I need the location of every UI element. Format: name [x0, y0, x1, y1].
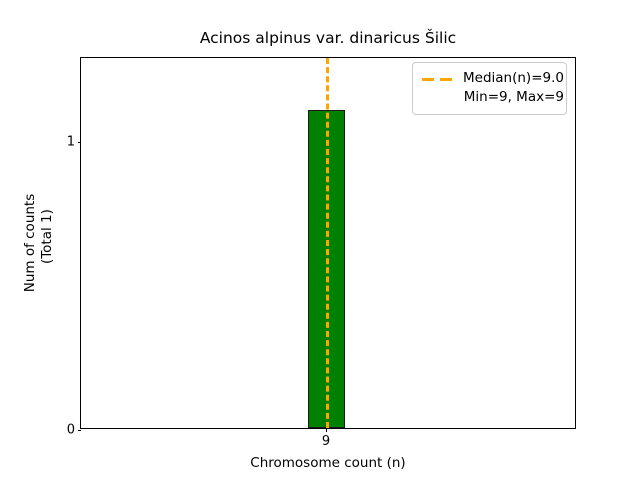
ytick-mark-1	[78, 142, 82, 143]
xtick-mark-9	[326, 428, 327, 432]
legend-label-minmax: Min=9, Max=9	[463, 88, 564, 107]
ytick-label-0: 0	[67, 424, 75, 437]
legend-label-median: Median(n)=9.0	[463, 69, 564, 88]
y-axis-label: Num of counts (Total 1)	[22, 57, 56, 429]
xtick-label-9: 9	[322, 435, 330, 449]
x-axis-label: Chromosome count (n)	[80, 455, 576, 471]
median-dashed-line-icon	[421, 71, 455, 87]
legend: Median(n)=9.0 Min=9, Max=9	[412, 62, 567, 115]
ytick-label-1: 1	[67, 136, 75, 149]
median-line	[326, 58, 329, 428]
ytick-mark-0	[78, 430, 82, 431]
legend-entry-median: Median(n)=9.0 Min=9, Max=9	[463, 69, 564, 107]
chart-figure: Acinos alpinus var. dinaricus Šilic 0 1 …	[0, 0, 640, 480]
page-title: Acinos alpinus var. dinaricus Šilic	[80, 28, 576, 48]
